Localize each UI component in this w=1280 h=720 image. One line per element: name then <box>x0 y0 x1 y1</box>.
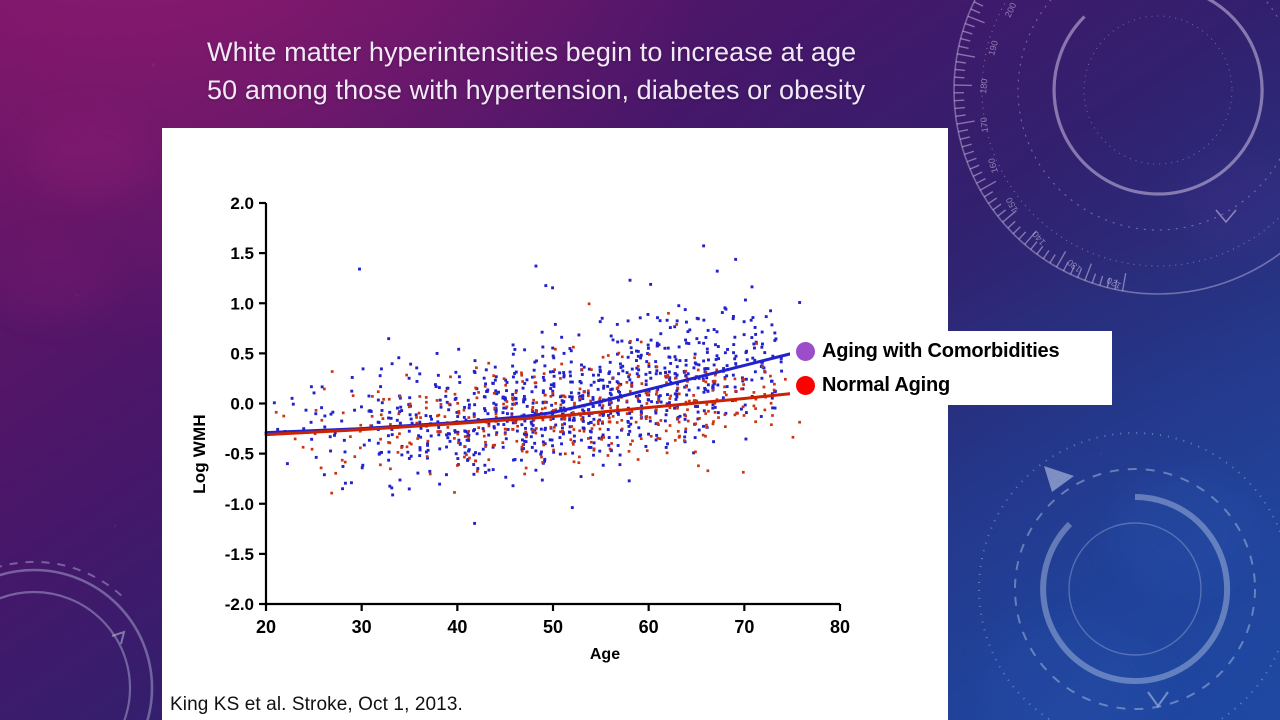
scatter-point <box>705 381 708 384</box>
scatter-point <box>692 394 695 397</box>
scatter-point <box>520 374 523 377</box>
scatter-point <box>714 343 717 346</box>
scatter-point <box>773 339 776 342</box>
scatter-point <box>684 428 687 431</box>
legend-item-normal-aging[interactable]: Normal Aging <box>796 368 1112 402</box>
scatter-point <box>628 373 631 376</box>
scatter-point <box>532 399 535 402</box>
scatter-point <box>525 440 528 443</box>
scatter-point <box>562 371 565 374</box>
scatter-point <box>330 492 333 495</box>
scatter-point <box>467 450 470 453</box>
scatter-point <box>645 380 648 383</box>
scatter-point <box>522 398 525 401</box>
scatter-point <box>609 401 612 404</box>
x-tick-label: 30 <box>352 617 372 637</box>
scatter-point <box>429 473 432 476</box>
scatter-point <box>534 382 537 385</box>
scatter-point <box>656 316 659 319</box>
scatter-point <box>609 407 612 410</box>
scatter-point <box>310 438 313 441</box>
scatter-point <box>513 348 516 351</box>
scatter-point <box>389 442 392 445</box>
scatter-point <box>573 460 576 463</box>
scatter-point <box>577 392 580 395</box>
scatter-point <box>742 378 745 381</box>
scatter-point <box>649 377 652 380</box>
scatter-point <box>674 439 677 442</box>
scatter-point <box>573 428 576 431</box>
scatter-point <box>526 450 529 453</box>
scatter-point <box>323 388 326 391</box>
scatter-point <box>445 446 448 449</box>
scatter-point <box>755 342 758 345</box>
scatter-point <box>626 400 629 403</box>
scatter-point <box>637 458 640 461</box>
scatter-point <box>714 406 717 409</box>
scatter-point <box>675 323 678 326</box>
scatter-point <box>511 428 514 431</box>
scatter-point <box>542 440 545 443</box>
scatter-point <box>774 407 777 410</box>
scatter-point <box>726 364 729 367</box>
scatter-point <box>512 459 515 462</box>
scatter-point <box>531 406 534 409</box>
scatter-point <box>669 424 672 427</box>
scatter-point <box>743 320 746 323</box>
scatter-point <box>397 451 400 454</box>
scatter-point <box>626 381 629 384</box>
scatter-point <box>438 483 441 486</box>
scatter-point <box>486 412 489 415</box>
scatter-point <box>607 354 610 357</box>
scatter-point <box>751 285 754 288</box>
scatter-point <box>638 394 641 397</box>
scatter-point <box>675 393 678 396</box>
scatter-point <box>770 402 773 405</box>
scatter-point <box>628 450 631 453</box>
scatter-point <box>502 411 505 414</box>
scatter-point <box>525 436 528 439</box>
scatter-point <box>649 416 652 419</box>
scatter-point <box>473 392 476 395</box>
scatter-point <box>611 377 614 380</box>
scatter-point <box>305 409 308 412</box>
scatter-point <box>334 472 337 475</box>
scatter-point <box>618 463 621 466</box>
scatter-point <box>724 378 727 381</box>
scatter-point <box>705 424 708 427</box>
scatter-point <box>676 417 679 420</box>
scatter-point <box>657 395 660 398</box>
scatter-point <box>743 414 746 417</box>
y-tick-label: -1.0 <box>225 495 254 514</box>
scatter-point <box>549 387 552 390</box>
scatter-point <box>408 487 411 490</box>
scatter-point <box>621 365 624 368</box>
scatter-point <box>647 362 650 365</box>
scatter-point <box>616 421 619 424</box>
scatter-point <box>581 368 584 371</box>
scatter-point <box>607 414 610 417</box>
scatter-point <box>593 441 596 444</box>
y-tick-label: 1.5 <box>230 244 254 263</box>
scatter-point <box>673 407 676 410</box>
scatter-point <box>554 402 557 405</box>
scatter-point <box>676 319 679 322</box>
scatter-point <box>717 416 720 419</box>
scatter-point <box>660 401 663 404</box>
scatter-point <box>358 268 361 271</box>
x-tick-label: 80 <box>830 617 850 637</box>
scatter-point <box>467 439 470 442</box>
scatter-point <box>769 375 772 378</box>
scatter-point <box>655 434 658 437</box>
scatter-point <box>663 347 666 350</box>
scatter-point <box>602 464 605 467</box>
scatter-point <box>602 356 605 359</box>
scatter-point <box>698 363 701 366</box>
scatter-point <box>533 369 536 372</box>
scatter-point <box>599 370 602 373</box>
scatter-point <box>745 411 748 414</box>
scatter-point <box>695 337 698 340</box>
scatter-point <box>377 390 380 393</box>
scatter-point <box>534 449 537 452</box>
scatter-point <box>674 398 677 401</box>
scatter-point <box>734 414 737 417</box>
scatter-point <box>553 385 556 388</box>
scatter-point <box>569 438 572 441</box>
scatter-point <box>455 397 458 400</box>
scatter-point <box>631 368 634 371</box>
scatter-point <box>467 430 470 433</box>
scatter-point <box>553 375 556 378</box>
scatter-point <box>678 421 681 424</box>
scatter-point <box>597 388 600 391</box>
scatter-point <box>657 423 660 426</box>
scatter-point <box>542 444 545 447</box>
scatter-point <box>669 362 672 365</box>
scatter-point <box>425 407 428 410</box>
scatter-point <box>627 319 630 322</box>
scatter-point <box>388 398 391 401</box>
scatter-point <box>683 435 686 438</box>
scatter-point <box>664 375 667 378</box>
scatter-point <box>698 429 701 432</box>
scatter-point <box>472 473 475 476</box>
scatter-point <box>535 427 538 430</box>
scatter-point <box>597 374 600 377</box>
scatter-point <box>607 454 610 457</box>
scatter-point <box>742 471 745 474</box>
scatter-point <box>408 442 411 445</box>
scatter-point <box>503 377 506 380</box>
glow-blob <box>980 620 1160 720</box>
scatter-point <box>457 439 460 442</box>
scatter-point <box>476 397 479 400</box>
scatter-point <box>349 435 352 438</box>
scatter-point <box>534 385 537 388</box>
scatter-point <box>544 407 547 410</box>
scatter-point <box>554 348 557 351</box>
scatter-point <box>704 435 707 438</box>
scatter-point <box>535 432 538 435</box>
scatter-point <box>437 433 440 436</box>
scatter-point <box>474 359 477 362</box>
scatter-point <box>745 378 748 381</box>
glow-blob <box>1180 150 1280 260</box>
scatter-point <box>687 372 690 375</box>
scatter-point <box>560 442 563 445</box>
scatter-point <box>512 399 515 402</box>
scatter-point <box>628 378 631 381</box>
scatter-point <box>353 409 356 412</box>
x-tick-label: 70 <box>734 617 754 637</box>
scatter-point <box>590 368 593 371</box>
scatter-point <box>722 396 725 399</box>
scatter-point <box>541 461 544 464</box>
scatter-point <box>526 378 529 381</box>
scatter-point <box>342 465 345 468</box>
citation-text: King KS et al. Stroke, Oct 1, 2013. <box>170 694 463 716</box>
x-tick-label: 40 <box>447 617 467 637</box>
scatter-point <box>561 430 564 433</box>
scatter-point <box>495 375 498 378</box>
scatter-point <box>516 425 519 428</box>
scatter-point <box>371 415 374 418</box>
y-tick-label: 0.5 <box>230 344 254 363</box>
scatter-point <box>456 464 459 467</box>
scatter-point <box>635 359 638 362</box>
scatter-point <box>675 396 678 399</box>
scatter-point <box>612 415 615 418</box>
scatter-point <box>484 382 487 385</box>
scatter-point <box>612 338 615 341</box>
scatter-point <box>669 326 672 329</box>
scatter-point <box>381 401 384 404</box>
scatter-point <box>399 395 402 398</box>
scatter-point <box>437 426 440 429</box>
scatter-point <box>397 412 400 415</box>
scatter-point <box>396 419 399 422</box>
scatter-point <box>418 412 421 415</box>
scatter-point <box>571 452 574 455</box>
scatter-point <box>564 452 567 455</box>
scatter-point <box>580 475 583 478</box>
scatter-point <box>430 418 433 421</box>
scatter-point <box>716 354 719 357</box>
scatter-point <box>659 332 662 335</box>
scatter-point <box>649 283 652 286</box>
scatter-point <box>554 323 557 326</box>
scatter-point <box>666 442 669 445</box>
scatter-point <box>669 397 672 400</box>
scatter-point <box>599 396 602 399</box>
scatter-point <box>750 336 753 339</box>
scatter-point <box>458 412 461 415</box>
scatter-point <box>707 410 710 413</box>
scatter-point <box>698 341 701 344</box>
scatter-point <box>344 482 347 485</box>
scatter-point <box>647 347 650 350</box>
scatter-point <box>467 434 470 437</box>
scatter-point <box>664 371 667 374</box>
scatter-point <box>609 392 612 395</box>
y-tick-label: -1.5 <box>225 545 254 564</box>
scatter-point <box>465 453 468 456</box>
scatter-point <box>771 414 774 417</box>
scatter-point <box>721 311 724 314</box>
scatter-point <box>606 385 609 388</box>
scatter-point <box>426 429 429 432</box>
scatter-point <box>362 367 365 370</box>
scatter-point <box>427 440 430 443</box>
scatter-point <box>724 308 727 311</box>
scatter-point <box>390 486 393 489</box>
scatter-point <box>436 352 439 355</box>
scatter-point <box>551 347 554 350</box>
scatter-point <box>495 413 498 416</box>
scatter-point <box>685 359 688 362</box>
legend-item-comorbidities[interactable]: Aging with Comorbidities <box>796 334 1112 368</box>
scatter-point <box>600 438 603 441</box>
scatter-point <box>488 425 491 428</box>
scatter-point <box>408 457 411 460</box>
scatter-point <box>487 469 490 472</box>
scatter-point <box>446 436 449 439</box>
scatter-point <box>573 402 576 405</box>
scatter-point <box>577 461 580 464</box>
scatter-point <box>495 433 498 436</box>
scatter-point <box>635 350 638 353</box>
scatter-point <box>425 414 428 417</box>
scatter-point <box>753 405 756 408</box>
scatter-point <box>569 374 572 377</box>
scatter-point <box>770 423 773 426</box>
scatter-point <box>329 435 332 438</box>
scatter-point <box>679 359 682 362</box>
scatter-point <box>712 380 715 383</box>
scatter-point <box>445 473 448 476</box>
scatter-point <box>587 422 590 425</box>
scatter-point <box>644 373 647 376</box>
scatter-point <box>560 336 563 339</box>
scatter-point <box>617 390 620 393</box>
scatter-point <box>734 258 737 261</box>
glow-blob <box>30 110 150 200</box>
legend-label: Normal Aging <box>822 374 950 397</box>
scatter-point <box>627 421 630 424</box>
scatter-point <box>331 370 334 373</box>
scatter-point <box>648 353 651 356</box>
scatter-point <box>388 411 391 414</box>
scatter-point <box>587 389 590 392</box>
scatter-point <box>487 434 490 437</box>
scatter-point <box>639 434 642 437</box>
scatter-point <box>647 365 650 368</box>
scatter-point <box>702 342 705 345</box>
scatter-point <box>665 446 668 449</box>
scatter-point <box>687 342 690 345</box>
scatter-point <box>597 420 600 423</box>
glow-blob <box>1110 470 1260 590</box>
scatter-point <box>391 362 394 365</box>
scatter-point <box>551 392 554 395</box>
scatter-point <box>697 464 700 467</box>
scatter-point <box>543 379 546 382</box>
scatter-point <box>492 374 495 377</box>
scatter-point <box>495 403 498 406</box>
scatter-point <box>683 439 686 442</box>
scatter-point <box>494 366 497 369</box>
scatter-point <box>655 393 658 396</box>
scatter-point <box>597 422 600 425</box>
scatter-point <box>501 441 504 444</box>
scatter-point <box>535 410 538 413</box>
scatter-point <box>736 412 739 415</box>
scatter-point <box>617 399 620 402</box>
scatter-point <box>561 423 564 426</box>
scatter-point <box>570 361 573 364</box>
scatter-point <box>387 434 390 437</box>
scatter-point <box>526 405 529 408</box>
scatter-point <box>535 401 538 404</box>
scatter-point <box>515 381 518 384</box>
page-title: White matter hyperintensities begin to i… <box>207 33 987 109</box>
scatter-point <box>665 413 668 416</box>
scatter-point <box>687 420 690 423</box>
scatter-point <box>315 456 318 459</box>
scatter-point <box>620 419 623 422</box>
scatter-point <box>753 347 756 350</box>
scatter-point <box>456 415 459 418</box>
scatter-point <box>636 372 639 375</box>
scatter-point <box>578 456 581 459</box>
scatter-point <box>523 348 526 351</box>
scatter-point <box>483 464 486 467</box>
scatter-point <box>510 407 513 410</box>
scatter-point <box>487 362 490 365</box>
scatter-point <box>476 467 479 470</box>
scatter-point <box>666 393 669 396</box>
scatter-point <box>540 456 543 459</box>
scatter-point <box>591 473 594 476</box>
scatter-point <box>391 433 394 436</box>
scatter-point <box>472 463 475 466</box>
legend-marker-purple-circle-icon <box>796 342 815 361</box>
scatter-point <box>344 461 347 464</box>
scatter-point <box>444 395 447 398</box>
scatter-point <box>398 432 401 435</box>
scatter-point <box>493 427 496 430</box>
scatter-point <box>458 381 461 384</box>
scatter-point <box>732 374 735 377</box>
scatter-point <box>571 398 574 401</box>
scatter-point <box>429 415 432 418</box>
scatter-point <box>659 372 662 375</box>
scatter-point <box>752 316 755 319</box>
scatter-point <box>428 470 431 473</box>
scatter-point <box>542 419 545 422</box>
scatter-point <box>550 383 553 386</box>
scatter-point <box>541 346 544 349</box>
scatter-point <box>377 442 380 445</box>
scatter-point <box>569 431 572 434</box>
scatter-point <box>684 418 687 421</box>
scatter-point <box>410 418 413 421</box>
scatter-point <box>626 371 629 374</box>
